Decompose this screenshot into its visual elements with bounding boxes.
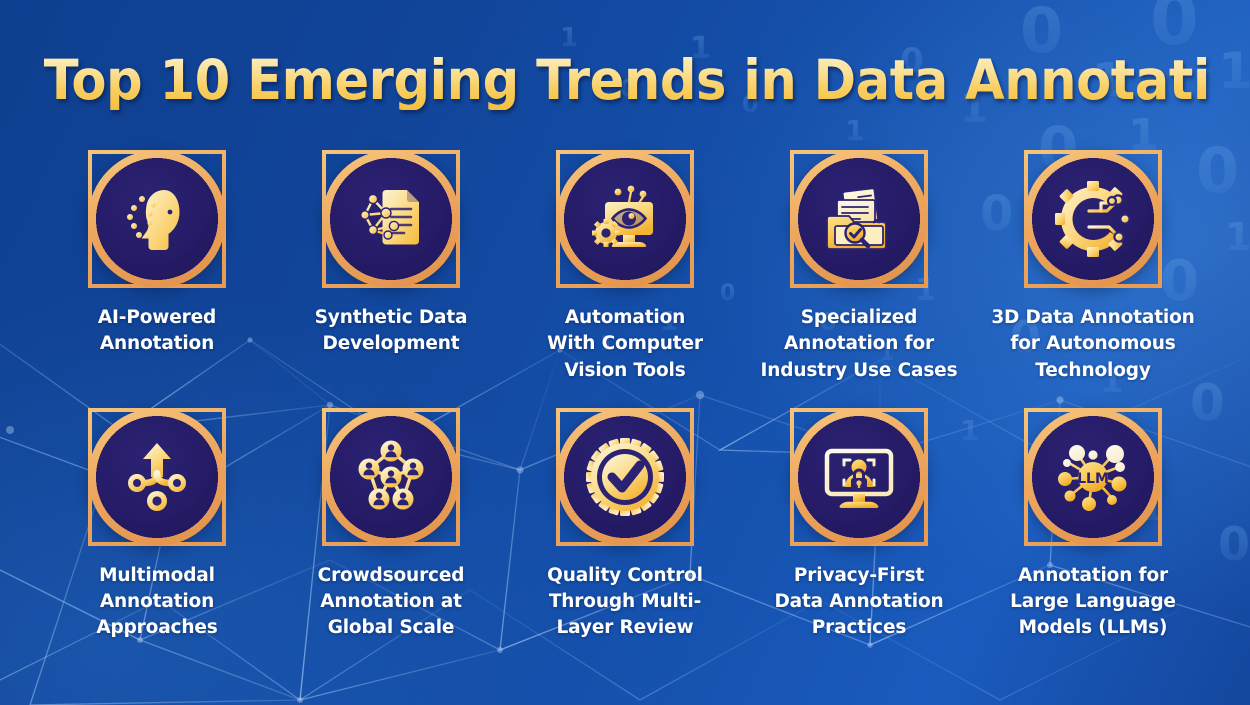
trend-label-9: Privacy-FirstData AnnotationPractices — [774, 563, 943, 642]
trend-icon-badge-1 — [88, 150, 226, 288]
svg-text:0: 0 — [1218, 517, 1250, 571]
trend-icon-badge-5 — [1024, 150, 1162, 288]
trend-item-2[interactable]: Synthetic DataDevelopment — [274, 150, 508, 384]
trend-icon-badge-10: LLM — [1024, 408, 1162, 546]
trend-label-5: 3D Data Annotationfor AutonomousTechnolo… — [991, 305, 1194, 384]
llm-icon-label: LLM — [1077, 471, 1109, 487]
trend-icon-badge-6 — [88, 408, 226, 546]
people-network-icon — [353, 439, 429, 515]
trend-label-2: Synthetic DataDevelopment — [315, 305, 468, 358]
trend-icon-badge-2 — [322, 150, 460, 288]
trend-item-4[interactable]: SpecializedAnnotation forIndustry Use Ca… — [742, 150, 976, 384]
trend-icon-badge-7 — [322, 408, 460, 546]
svg-text:1: 1 — [1225, 215, 1250, 259]
svg-text:1: 1 — [845, 114, 864, 147]
trend-label-8: Quality ControlThrough Multi-Layer Revie… — [547, 563, 703, 642]
trend-icon-badge-3 — [556, 150, 694, 288]
merge-arrow-nodes-icon — [119, 439, 195, 515]
monitor-eye-gear-icon — [587, 181, 663, 257]
trend-item-6[interactable]: MultimodalAnnotationApproaches — [40, 408, 274, 642]
infographic-poster: 0 1 0 1 1 0 1 0 0 1 0 1 0 1 1 0 1 0 1 0 — [0, 0, 1250, 705]
trend-icon-badge-8 — [556, 408, 694, 546]
trend-item-1[interactable]: AI-PoweredAnnotation — [40, 150, 274, 384]
gear-circuit-icon — [1055, 181, 1131, 257]
ai-head-circuit-icon — [120, 182, 194, 256]
trend-label-6: MultimodalAnnotationApproaches — [96, 563, 217, 642]
trend-label-3: AutomationWith ComputerVision Tools — [547, 305, 703, 384]
page-title: Top 10 Emerging Trends in Data Annotatio… — [44, 52, 1207, 110]
folder-magnifier-check-icon — [822, 182, 896, 256]
trend-icon-badge-9 — [790, 408, 928, 546]
trend-label-7: CrowdsourcedAnnotation atGlobal Scale — [318, 563, 465, 642]
trend-item-9[interactable]: Privacy-FirstData AnnotationPractices — [742, 408, 976, 642]
trend-label-4: SpecializedAnnotation forIndustry Use Ca… — [761, 305, 958, 384]
llm-node-cluster-icon: LLM — [1053, 437, 1133, 517]
trend-item-5[interactable]: 3D Data Annotationfor AutonomousTechnolo… — [976, 150, 1210, 384]
trend-item-10[interactable]: LLM Annotation forLarge LanguageModels (… — [976, 408, 1210, 642]
document-network-icon — [354, 182, 428, 256]
trend-item-8[interactable]: Quality ControlThrough Multi-Layer Revie… — [508, 408, 742, 642]
trend-label-1: AI-PoweredAnnotation — [98, 305, 216, 358]
quality-badge-check-icon — [586, 438, 664, 516]
trend-icon-badge-4 — [790, 150, 928, 288]
trend-item-7[interactable]: CrowdsourcedAnnotation atGlobal Scale — [274, 408, 508, 642]
monitor-person-lock-icon — [820, 438, 898, 516]
trends-grid: AI-PoweredAnnotation — [40, 150, 1210, 642]
trend-item-3[interactable]: AutomationWith ComputerVision Tools — [508, 150, 742, 384]
trend-label-10: Annotation forLarge LanguageModels (LLMs… — [1010, 563, 1176, 642]
